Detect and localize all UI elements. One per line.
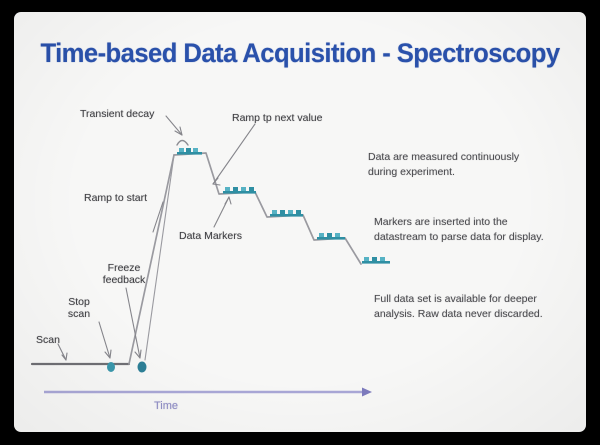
time-axis xyxy=(44,388,372,397)
body-paragraph-2: Markers are inserted into the datastream… xyxy=(374,215,554,244)
slide-frame: Time-based Data Acquisition - Spectrosco… xyxy=(0,0,600,445)
transient-decay-overshoot xyxy=(177,141,188,146)
data-marker-group xyxy=(177,148,390,264)
annotation-stop-scan: Stop scan xyxy=(59,296,99,320)
annotation-transient-decay: Transient decay xyxy=(80,108,154,120)
slide-canvas: Time-based Data Acquisition - Spectrosco… xyxy=(14,12,586,432)
signal-trace xyxy=(32,153,361,364)
annotation-data-markers: Data Markers xyxy=(179,230,242,242)
body-paragraph-1: Data are measured continuously during ex… xyxy=(368,150,548,179)
annotation-ramp-tp-next-value: Ramp tp next value xyxy=(232,112,322,124)
body-paragraph-3: Full data set is available for deeper an… xyxy=(374,292,554,321)
annotation-freeze-feedback: Freeze feedback xyxy=(96,262,152,286)
annotation-ramp-to-start: Ramp to start xyxy=(84,192,147,204)
time-axis-label: Time xyxy=(154,400,178,412)
annotation-scan: Scan xyxy=(36,334,60,346)
